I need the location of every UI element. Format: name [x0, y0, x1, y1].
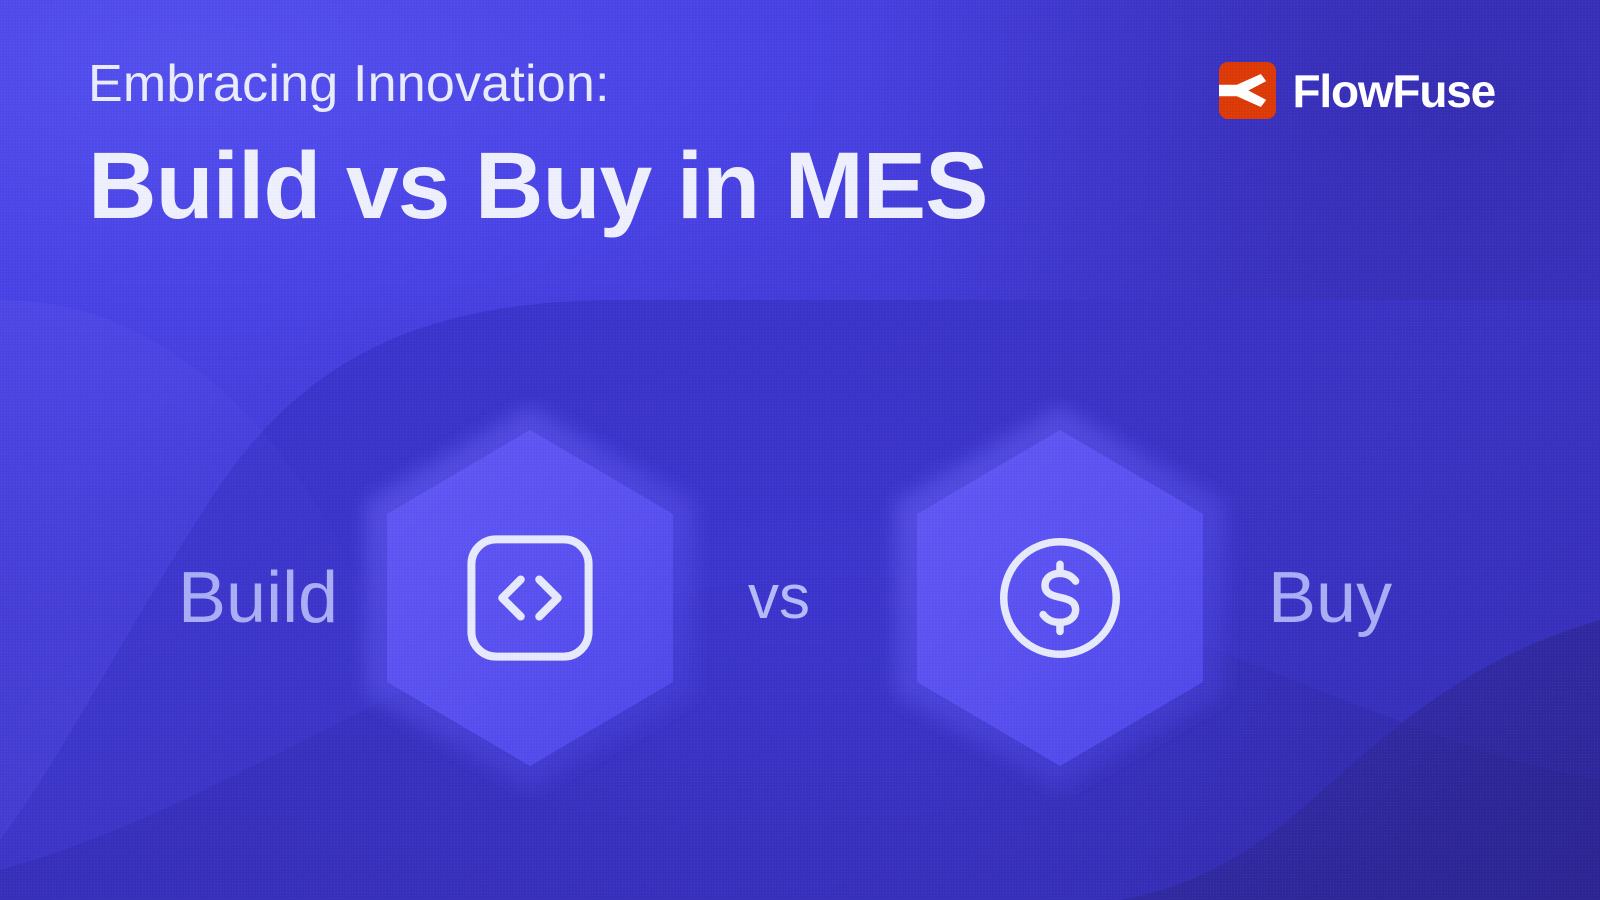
- versus-separator: vs: [748, 567, 810, 629]
- code-brackets-icon: [456, 524, 604, 672]
- brand-wordmark: FlowFuse: [1292, 68, 1495, 114]
- buy-hexagon-tile[interactable]: [880, 398, 1240, 798]
- build-hexagon-tile[interactable]: [350, 398, 710, 798]
- page-title: Build vs Buy in MES: [88, 139, 987, 234]
- flowfuse-logo-icon: [1219, 62, 1276, 119]
- eyebrow-text: Embracing Innovation:: [88, 58, 610, 110]
- buy-icon-layer: [880, 398, 1240, 798]
- hero-banner: Embracing Innovation: Build vs Buy in ME…: [0, 0, 1600, 900]
- brand-logo[interactable]: FlowFuse: [1219, 62, 1495, 119]
- build-icon-layer: [350, 398, 710, 798]
- build-label: Build: [178, 562, 338, 634]
- comparison-row: Build: [0, 418, 1600, 778]
- buy-label: Buy: [1268, 562, 1392, 634]
- dollar-circle-icon: [985, 523, 1135, 673]
